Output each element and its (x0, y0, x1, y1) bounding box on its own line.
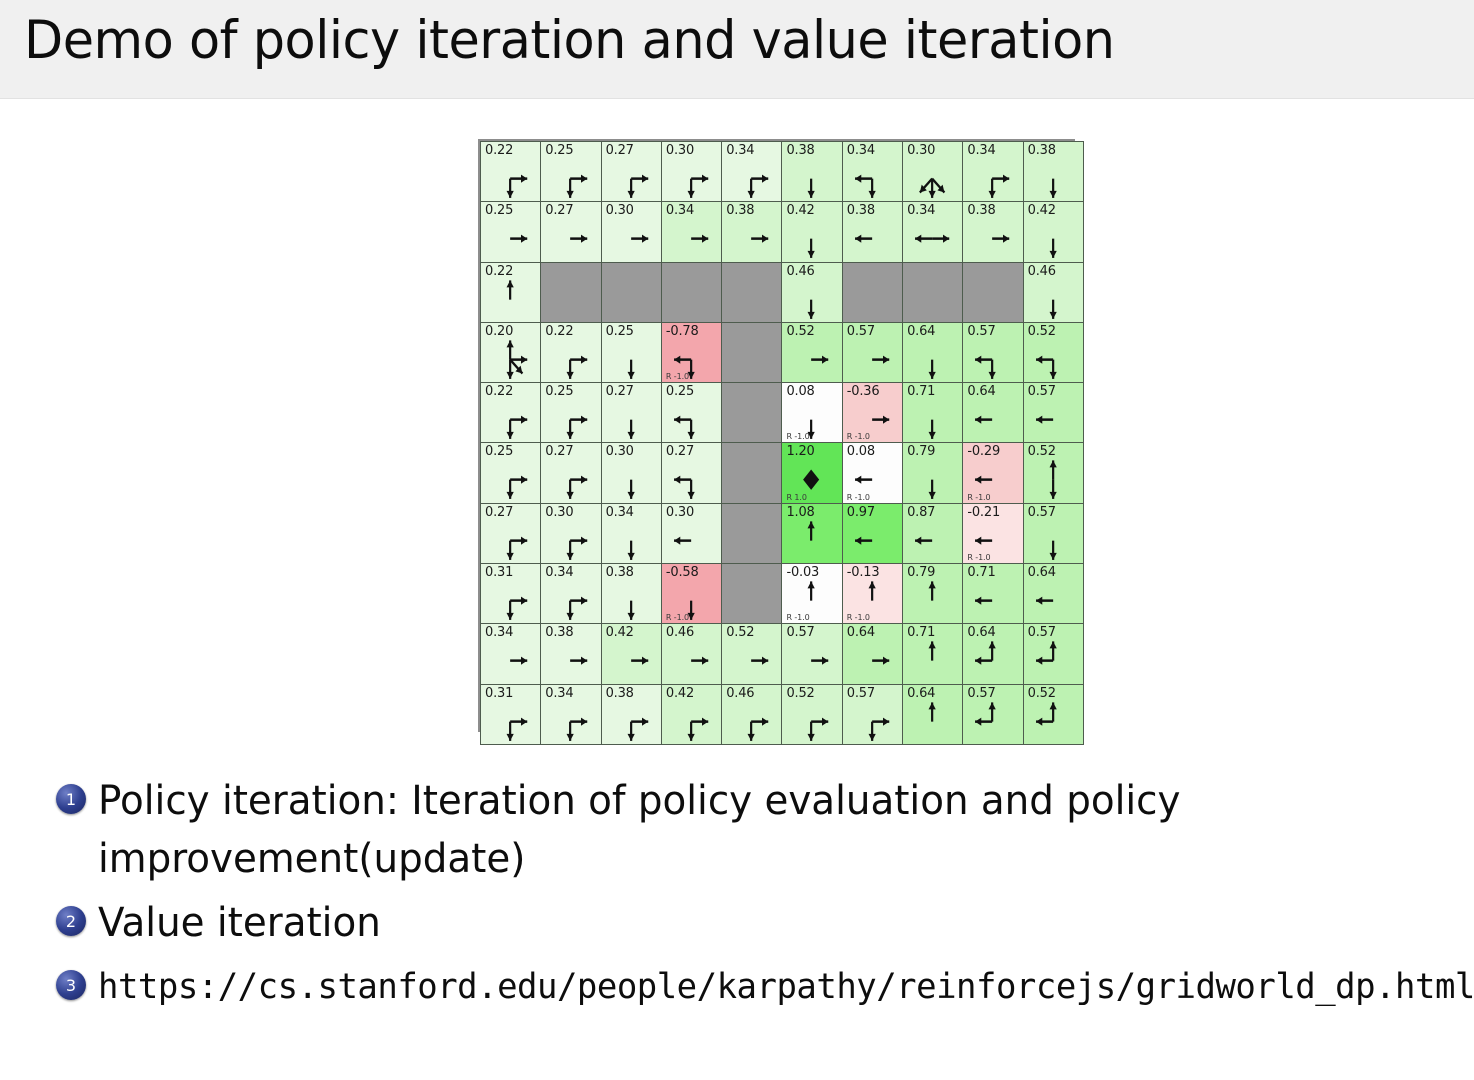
grid-cell[interactable]: 0.57 (963, 322, 1023, 382)
policy-arrow-icon (481, 699, 540, 744)
grid-cell[interactable]: 0.27 (541, 202, 601, 262)
policy-arrow-icon (481, 638, 540, 683)
grid-cell[interactable]: 0.38 (842, 202, 902, 262)
grid-cell-wall[interactable] (722, 383, 782, 443)
gridworld-table: 0.220.250.270.300.340.380.340.300.340.38… (480, 141, 1084, 745)
grid-cell[interactable]: -0.21R -1.0 (963, 503, 1023, 563)
grid-cell[interactable]: 0.57 (1023, 383, 1083, 443)
policy-arrow-icon (662, 699, 721, 744)
policy-arrow-icon (602, 578, 661, 623)
grid-cell[interactable]: 0.22 (481, 262, 541, 322)
policy-arrow-icon (963, 156, 1022, 201)
grid-cell-wall[interactable] (722, 503, 782, 563)
policy-arrow-icon (843, 216, 902, 261)
grid-cell[interactable]: 0.25 (541, 383, 601, 443)
grid-cell-wall[interactable] (661, 262, 721, 322)
grid-cell[interactable]: 0.31 (481, 684, 541, 744)
policy-arrow-icon (481, 578, 540, 623)
grid-cell[interactable]: 0.25 (481, 202, 541, 262)
policy-arrow-icon (782, 277, 841, 322)
grid-cell[interactable]: 0.64 (963, 383, 1023, 443)
policy-arrow-icon (903, 699, 962, 744)
policy-arrow-icon (662, 216, 721, 261)
grid-cell[interactable]: 0.25 (601, 322, 661, 382)
policy-arrow-icon (481, 457, 540, 502)
grid-cell[interactable]: 0.57 (782, 624, 842, 684)
policy-arrow-icon (481, 277, 540, 322)
grid-cell[interactable]: 0.27 (541, 443, 601, 503)
grid-row: 0.310.340.380.420.460.520.570.640.570.52 (481, 684, 1084, 744)
grid-row: 0.340.380.420.460.520.570.640.710.640.57 (481, 624, 1084, 684)
bullet-text: Policy iteration: Iteration of policy ev… (98, 772, 1415, 888)
policy-arrow-icon (903, 638, 962, 683)
slide-title-bar: Demo of policy iteration and value itera… (0, 0, 1474, 99)
grid-cell[interactable]: 0.71 (903, 624, 963, 684)
grid-cell[interactable]: 0.30 (903, 142, 963, 202)
gridworld-grid[interactable]: 0.220.250.270.300.340.380.340.300.340.38… (478, 139, 1075, 732)
policy-arrow-icon (541, 457, 600, 502)
policy-arrow-icon (1024, 156, 1083, 201)
grid-cell[interactable]: 0.52 (722, 624, 782, 684)
grid-cell[interactable]: 0.38 (601, 684, 661, 744)
grid-cell[interactable]: 0.46 (1023, 262, 1083, 322)
policy-arrow-icon (541, 397, 600, 442)
policy-arrow-icon (722, 156, 781, 201)
list-item: 3https://cs.stanford.edu/people/karpathy… (56, 958, 1456, 1016)
grid-row: 0.220.250.270.300.340.380.340.300.340.38 (481, 142, 1084, 202)
policy-arrow-icon (662, 397, 721, 442)
grid-cell-wall[interactable] (722, 322, 782, 382)
grid-cell[interactable]: 1.08 (782, 503, 842, 563)
grid-cell-wall[interactable] (722, 443, 782, 503)
policy-arrow-icon (963, 397, 1022, 442)
cell-reward-label: R -1.0 (967, 553, 990, 562)
policy-arrow-icon (722, 216, 781, 261)
grid-cell[interactable]: -0.29R -1.0 (963, 443, 1023, 503)
policy-arrow-icon (1024, 397, 1083, 442)
cell-reward-label: R -1.0 (666, 613, 689, 622)
policy-arrow-icon (903, 457, 962, 502)
grid-cell[interactable]: 0.38 (601, 564, 661, 624)
grid-cell[interactable]: 0.64 (903, 684, 963, 744)
cell-reward-label: R -1.0 (666, 372, 689, 381)
cell-reward-label: R 1.0 (786, 493, 806, 502)
grid-cell-wall[interactable] (903, 262, 963, 322)
grid-cell[interactable]: 0.46 (782, 262, 842, 322)
bullet-link-text[interactable]: https://cs.stanford.edu/people/karpathy/… (98, 958, 1474, 1016)
policy-arrow-icon (541, 578, 600, 623)
policy-arrow-icon (782, 638, 841, 683)
grid-cell[interactable]: 0.34 (963, 142, 1023, 202)
policy-arrow-icon (602, 638, 661, 683)
grid-cell[interactable]: 0.25 (661, 383, 721, 443)
grid-cell[interactable]: 0.52 (1023, 443, 1083, 503)
grid-cell[interactable]: 0.38 (541, 624, 601, 684)
policy-arrow-icon (481, 156, 540, 201)
grid-cell[interactable]: -0.78R -1.0 (661, 322, 721, 382)
policy-arrow-icon (963, 337, 1022, 382)
grid-cell[interactable]: -0.36R -1.0 (842, 383, 902, 443)
grid-cell[interactable]: 0.34 (722, 142, 782, 202)
policy-arrow-icon (782, 216, 841, 261)
policy-arrow-icon (1024, 277, 1083, 322)
policy-arrow-icon (782, 156, 841, 201)
grid-cell[interactable]: 0.22 (481, 383, 541, 443)
policy-arrow-icon (541, 337, 600, 382)
grid-cell[interactable]: -0.03R -1.0 (782, 564, 842, 624)
policy-arrow-icon (1024, 518, 1083, 563)
grid-cell[interactable]: 0.57 (1023, 503, 1083, 563)
policy-arrow-icon (843, 638, 902, 683)
policy-arrow-icon (843, 337, 902, 382)
grid-cell[interactable]: 0.57 (1023, 624, 1083, 684)
grid-cell[interactable]: 0.79 (903, 564, 963, 624)
policy-arrow-icon (1024, 699, 1083, 744)
grid-cell[interactable]: 0.25 (541, 142, 601, 202)
grid-cell[interactable]: 0.42 (782, 202, 842, 262)
policy-arrow-icon (662, 457, 721, 502)
grid-cell[interactable]: 0.30 (601, 443, 661, 503)
grid-cell[interactable]: 0.52 (1023, 322, 1083, 382)
bullet-list: 1Policy iteration: Iteration of policy e… (56, 772, 1456, 1022)
grid-row: 0.220.250.270.250.08R -1.0-0.36R -1.00.7… (481, 383, 1084, 443)
grid-cell-wall[interactable] (601, 262, 661, 322)
grid-cell[interactable]: 0.34 (842, 142, 902, 202)
policy-arrow-icon (782, 699, 841, 744)
policy-arrow-icon (481, 216, 540, 261)
grid-row: 0.200.220.25-0.78R -1.00.520.570.640.570… (481, 322, 1084, 382)
policy-arrow-icon (602, 156, 661, 201)
grid-cell[interactable]: 0.64 (842, 624, 902, 684)
policy-arrow-icon (843, 699, 902, 744)
grid-cell[interactable]: 0.30 (541, 503, 601, 563)
policy-arrow-icon (963, 578, 1022, 623)
grid-row: 0.310.340.38-0.58R -1.0-0.03R -1.0-0.13R… (481, 564, 1084, 624)
grid-cell[interactable]: 0.57 (842, 322, 902, 382)
grid-cell[interactable]: 0.87 (903, 503, 963, 563)
policy-arrow-icon (541, 216, 600, 261)
policy-arrow-icon (722, 699, 781, 744)
policy-arrow-icon (662, 638, 721, 683)
grid-cell[interactable]: 0.34 (601, 503, 661, 563)
grid-cell[interactable]: 0.46 (661, 624, 721, 684)
grid-cell[interactable]: 0.30 (661, 142, 721, 202)
policy-arrow-icon (963, 216, 1022, 261)
policy-arrow-icon (481, 337, 540, 382)
policy-arrow-icon (782, 518, 841, 563)
grid-cell[interactable]: 0.27 (601, 383, 661, 443)
policy-arrow-icon (1024, 578, 1083, 623)
grid-cell[interactable]: 0.34 (541, 564, 601, 624)
grid-row: 0.270.300.340.301.080.970.87-0.21R -1.00… (481, 503, 1084, 563)
grid-cell[interactable]: 0.27 (481, 503, 541, 563)
policy-arrow-icon (903, 397, 962, 442)
policy-arrow-icon (541, 699, 600, 744)
grid-row: 0.250.270.300.271.20R 1.00.08R -1.00.79-… (481, 443, 1084, 503)
grid-cell[interactable]: 0.30 (601, 202, 661, 262)
grid-cell[interactable]: 0.38 (722, 202, 782, 262)
cell-reward-label: R -1.0 (847, 432, 870, 441)
grid-cell[interactable]: 0.64 (1023, 564, 1083, 624)
grid-cell[interactable]: -0.13R -1.0 (842, 564, 902, 624)
cell-reward-label: R -1.0 (847, 493, 870, 502)
grid-cell-wall[interactable] (842, 262, 902, 322)
policy-arrow-icon (602, 337, 661, 382)
grid-row: 0.220.460.46 (481, 262, 1084, 322)
grid-cell[interactable]: 0.46 (722, 684, 782, 744)
grid-cell[interactable]: 0.38 (963, 202, 1023, 262)
policy-arrow-icon (541, 156, 600, 201)
grid-cell[interactable]: 0.34 (481, 624, 541, 684)
policy-arrow-icon (722, 638, 781, 683)
grid-cell[interactable]: 0.64 (963, 624, 1023, 684)
policy-arrow-icon (541, 518, 600, 563)
grid-cell[interactable]: 0.97 (842, 503, 902, 563)
policy-arrow-icon (843, 156, 902, 201)
bullet-number-badge: 1 (56, 784, 86, 814)
policy-arrow-icon (782, 337, 841, 382)
list-item: 2Value iteration (56, 894, 1456, 952)
grid-cell[interactable]: 0.38 (782, 142, 842, 202)
policy-arrow-icon (602, 457, 661, 502)
grid-cell[interactable]: 0.08R -1.0 (782, 383, 842, 443)
policy-arrow-icon (963, 699, 1022, 744)
policy-arrow-icon (903, 216, 962, 261)
policy-arrow-icon (541, 638, 600, 683)
policy-arrow-icon (602, 699, 661, 744)
bullet-number-badge: 3 (56, 970, 86, 1000)
list-item: 1Policy iteration: Iteration of policy e… (56, 772, 1456, 888)
grid-cell[interactable]: 0.34 (541, 684, 601, 744)
policy-arrow-icon (1024, 337, 1083, 382)
policy-arrow-icon (903, 578, 962, 623)
grid-cell[interactable]: 0.52 (782, 684, 842, 744)
grid-cell[interactable]: 0.34 (661, 202, 721, 262)
policy-arrow-icon (903, 156, 962, 201)
grid-cell-wall[interactable] (963, 262, 1023, 322)
grid-cell[interactable]: 0.52 (1023, 684, 1083, 744)
policy-arrow-icon (1024, 216, 1083, 261)
cell-reward-label: R -1.0 (847, 613, 870, 622)
grid-cell[interactable]: 0.25 (481, 443, 541, 503)
bullet-text: Value iteration (98, 894, 1415, 952)
grid-cell[interactable]: 1.20R 1.0 (782, 443, 842, 503)
grid-cell[interactable]: 0.79 (903, 443, 963, 503)
grid-cell[interactable]: 0.42 (601, 624, 661, 684)
grid-cell[interactable]: 0.57 (963, 684, 1023, 744)
cell-reward-label: R -1.0 (786, 613, 809, 622)
grid-cell[interactable]: 0.42 (1023, 202, 1083, 262)
grid-cell[interactable]: 0.71 (963, 564, 1023, 624)
grid-cell[interactable]: 0.27 (661, 443, 721, 503)
grid-cell[interactable]: 0.42 (661, 684, 721, 744)
policy-arrow-icon (662, 518, 721, 563)
policy-arrow-icon (1024, 638, 1083, 683)
grid-row: 0.250.270.300.340.380.420.380.340.380.42 (481, 202, 1084, 262)
bullet-number-badge: 2 (56, 906, 86, 936)
grid-cell-wall[interactable] (722, 262, 782, 322)
policy-arrow-icon (602, 397, 661, 442)
grid-cell[interactable]: 0.20 (481, 322, 541, 382)
grid-cell[interactable]: 0.38 (1023, 142, 1083, 202)
policy-arrow-icon (481, 518, 540, 563)
grid-cell-wall[interactable] (722, 564, 782, 624)
grid-cell[interactable]: 0.30 (661, 503, 721, 563)
grid-cell[interactable]: 0.64 (903, 322, 963, 382)
grid-cell[interactable]: -0.58R -1.0 (661, 564, 721, 624)
policy-arrow-icon (602, 518, 661, 563)
grid-cell[interactable]: 0.31 (481, 564, 541, 624)
grid-cell[interactable]: 0.08R -1.0 (842, 443, 902, 503)
policy-arrow-icon (662, 156, 721, 201)
policy-arrow-icon (481, 397, 540, 442)
grid-cell[interactable]: 0.52 (782, 322, 842, 382)
policy-arrow-icon (963, 638, 1022, 683)
cell-reward-label: R -1.0 (967, 493, 990, 502)
policy-arrow-icon (903, 518, 962, 563)
policy-arrow-icon (903, 337, 962, 382)
grid-cell[interactable]: 0.57 (842, 684, 902, 744)
policy-arrow-icon (843, 518, 902, 563)
policy-arrow-icon (602, 216, 661, 261)
grid-cell[interactable]: 0.22 (481, 142, 541, 202)
page-title: Demo of policy iteration and value itera… (24, 10, 1115, 71)
grid-cell[interactable]: 0.27 (601, 142, 661, 202)
grid-cell-wall[interactable] (541, 262, 601, 322)
policy-arrow-icon (1024, 457, 1083, 502)
cell-reward-label: R -1.0 (786, 432, 809, 441)
grid-cell[interactable]: 0.71 (903, 383, 963, 443)
grid-cell[interactable]: 0.22 (541, 322, 601, 382)
grid-cell[interactable]: 0.34 (903, 202, 963, 262)
